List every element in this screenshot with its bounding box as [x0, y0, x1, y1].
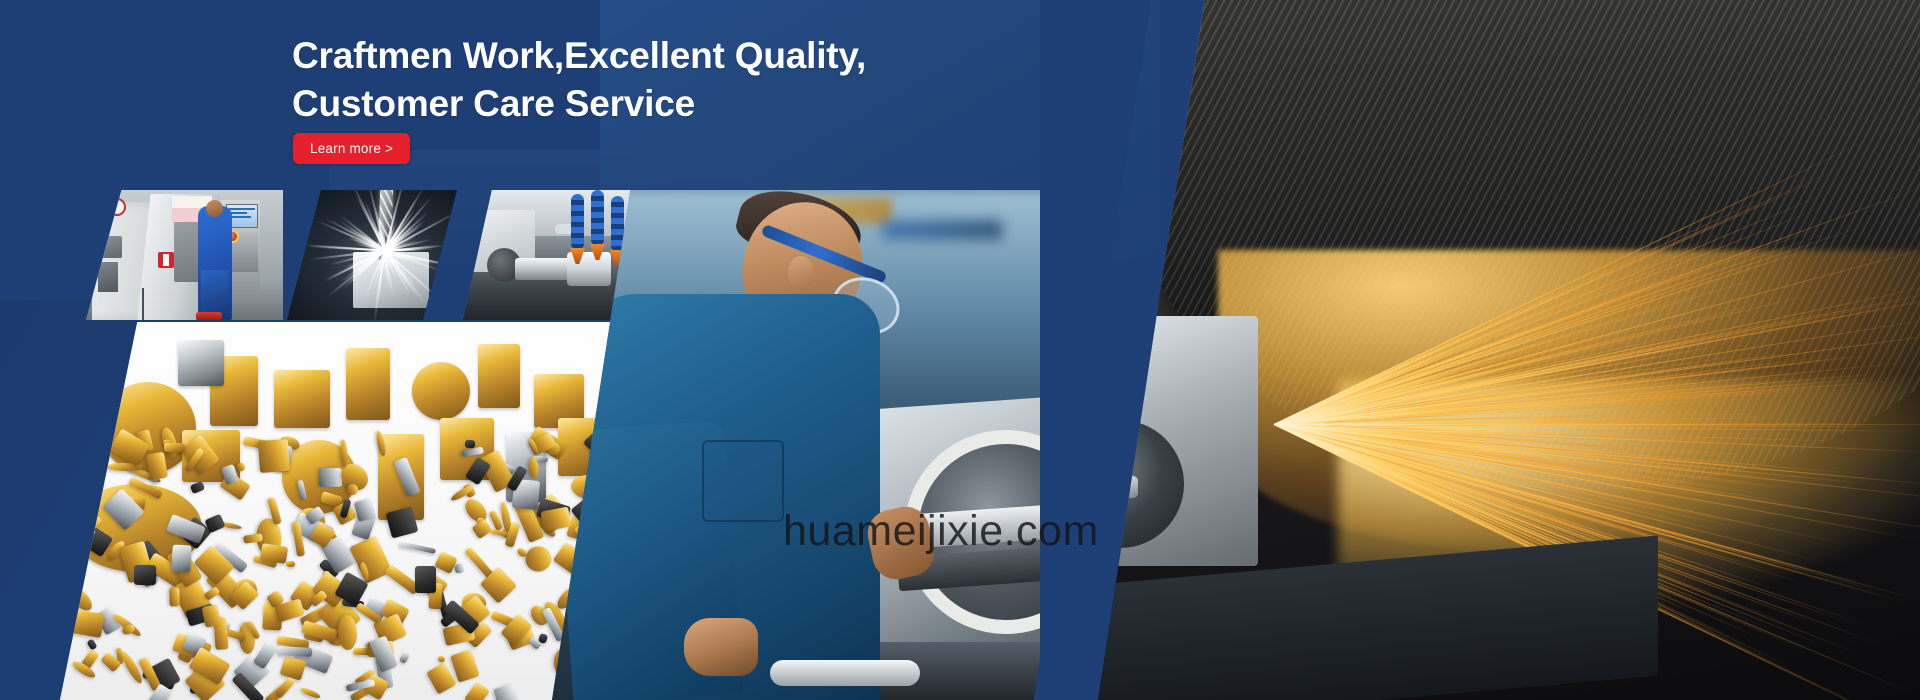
photo-worker [552, 190, 1112, 700]
photo-brass-parts [60, 322, 612, 700]
learn-more-button[interactable]: Learn more > [293, 133, 410, 164]
photo-grinding-sparks [1098, 0, 1920, 700]
page-title: Craftmen Work,Excellent Quality, Custome… [292, 32, 1192, 128]
hero-banner: Craftmen Work,Excellent Quality, Custome… [0, 0, 1920, 700]
